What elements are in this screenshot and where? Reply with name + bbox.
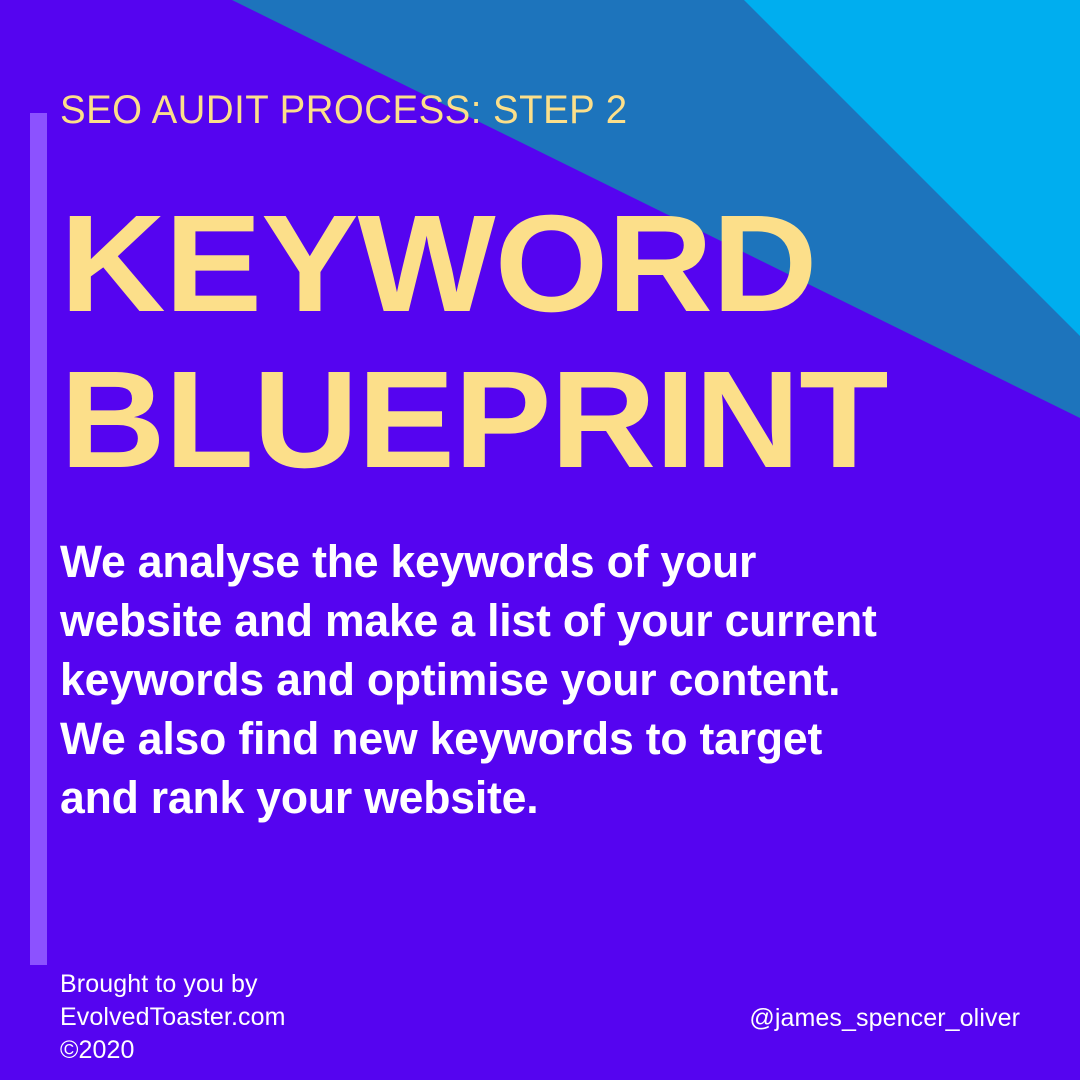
body-line-5: and rank your website. xyxy=(60,768,921,827)
headline-line-2: BLUEPRINT xyxy=(60,342,1014,498)
left-accent-bar xyxy=(30,113,47,965)
body-line-3: keywords and optimise your content. xyxy=(60,650,921,709)
footer-credit: Brought to you by EvolvedToaster.com ©20… xyxy=(60,968,286,1067)
social-post-card: SEO AUDIT PROCESS: STEP 2 KEYWORD BLUEPR… xyxy=(0,0,1080,1080)
footer-social-handle[interactable]: @james_spencer_oliver xyxy=(749,1003,1020,1033)
headline-line-1: KEYWORD xyxy=(60,186,1014,342)
body-line-4: We also find new keywords to target xyxy=(60,709,921,768)
eyebrow-label: SEO AUDIT PROCESS: STEP 2 xyxy=(60,86,628,134)
footer-credit-website[interactable]: EvolvedToaster.com xyxy=(60,1001,286,1034)
body-paragraph: We analyse the keywords of your website … xyxy=(60,532,921,827)
body-line-1: We analyse the keywords of your xyxy=(60,532,921,591)
page-title: KEYWORD BLUEPRINT xyxy=(60,186,1014,498)
footer-credit-line-1: Brought to you by xyxy=(60,968,286,1001)
footer-copyright: ©2020 xyxy=(60,1034,286,1067)
body-line-2: website and make a list of your current xyxy=(60,591,921,650)
content-column: SEO AUDIT PROCESS: STEP 2 KEYWORD BLUEPR… xyxy=(60,0,1020,1080)
